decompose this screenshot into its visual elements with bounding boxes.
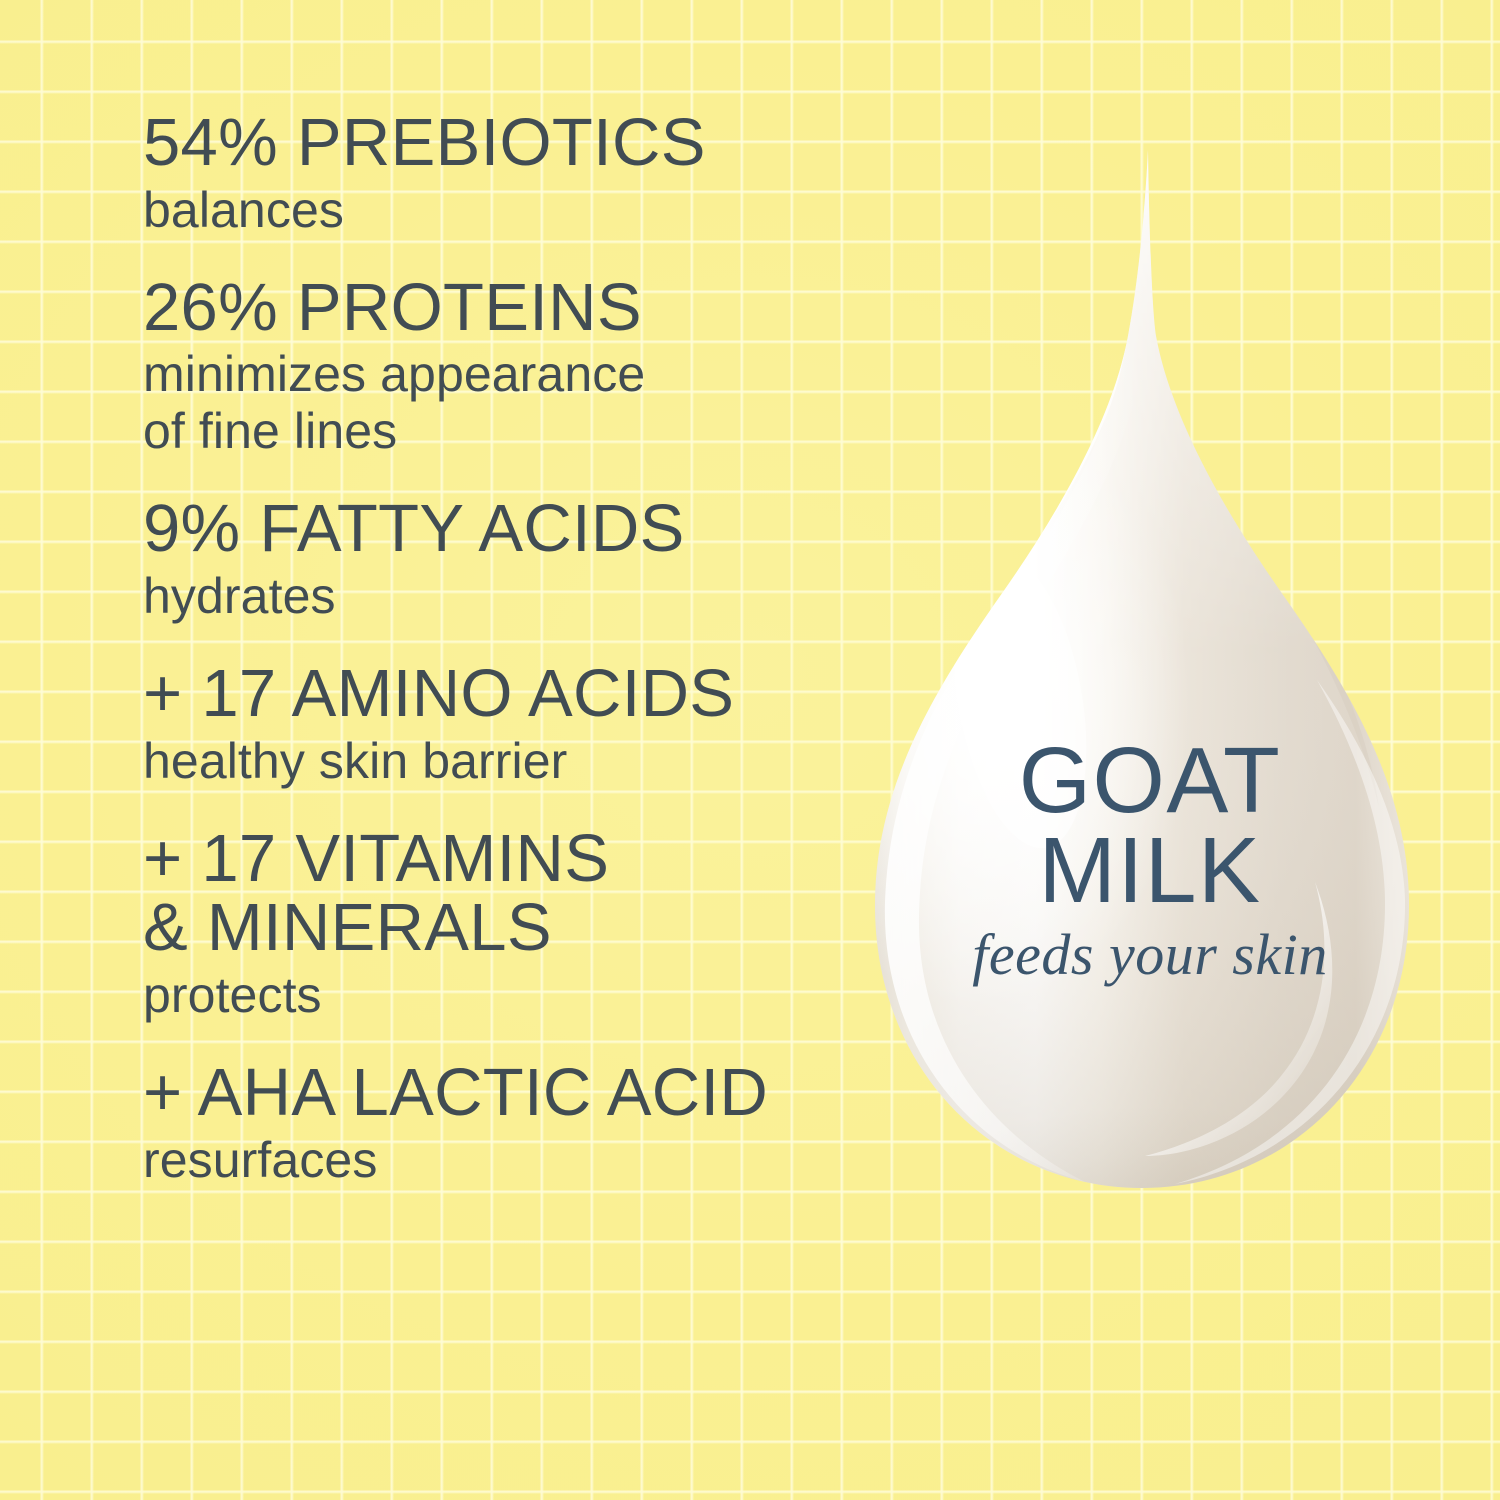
ingredient-benefit: healthy skin barrier bbox=[143, 733, 863, 790]
ingredient-item-prebiotics: 54% PREBIOTICS balances bbox=[143, 108, 863, 239]
ingredient-item-aha-lactic-acid: + AHA LACTIC ACID resurfaces bbox=[143, 1058, 863, 1189]
ingredient-headline: + AHA LACTIC ACID bbox=[143, 1058, 863, 1128]
ingredient-benefit: minimizes appearance of fine lines bbox=[143, 346, 863, 460]
goat-milk-ingredient-poster: 54% PREBIOTICS balances 26% PROTEINS min… bbox=[0, 0, 1500, 1500]
ingredient-headline: + 17 VITAMINS & MINERALS bbox=[143, 824, 863, 963]
ingredient-item-proteins: 26% PROTEINS minimizes appearance of fin… bbox=[143, 273, 863, 461]
ingredient-list: 54% PREBIOTICS balances 26% PROTEINS min… bbox=[143, 108, 863, 1189]
ingredient-item-fatty-acids: 9% FATTY ACIDS hydrates bbox=[143, 494, 863, 625]
ingredient-benefit: protects bbox=[143, 967, 863, 1024]
milk-drop-icon bbox=[845, 140, 1435, 1200]
ingredient-item-vitamins-minerals: + 17 VITAMINS & MINERALS protects bbox=[143, 824, 863, 1024]
ingredient-headline: 26% PROTEINS bbox=[143, 273, 863, 343]
ingredient-benefit: balances bbox=[143, 182, 863, 239]
ingredient-benefit: hydrates bbox=[143, 568, 863, 625]
ingredient-headline: 54% PREBIOTICS bbox=[143, 108, 863, 178]
ingredient-headline: + 17 AMINO ACIDS bbox=[143, 659, 863, 729]
ingredient-benefit: resurfaces bbox=[143, 1132, 863, 1189]
ingredient-headline: 9% FATTY ACIDS bbox=[143, 494, 863, 564]
ingredient-item-amino-acids: + 17 AMINO ACIDS healthy skin barrier bbox=[143, 659, 863, 790]
